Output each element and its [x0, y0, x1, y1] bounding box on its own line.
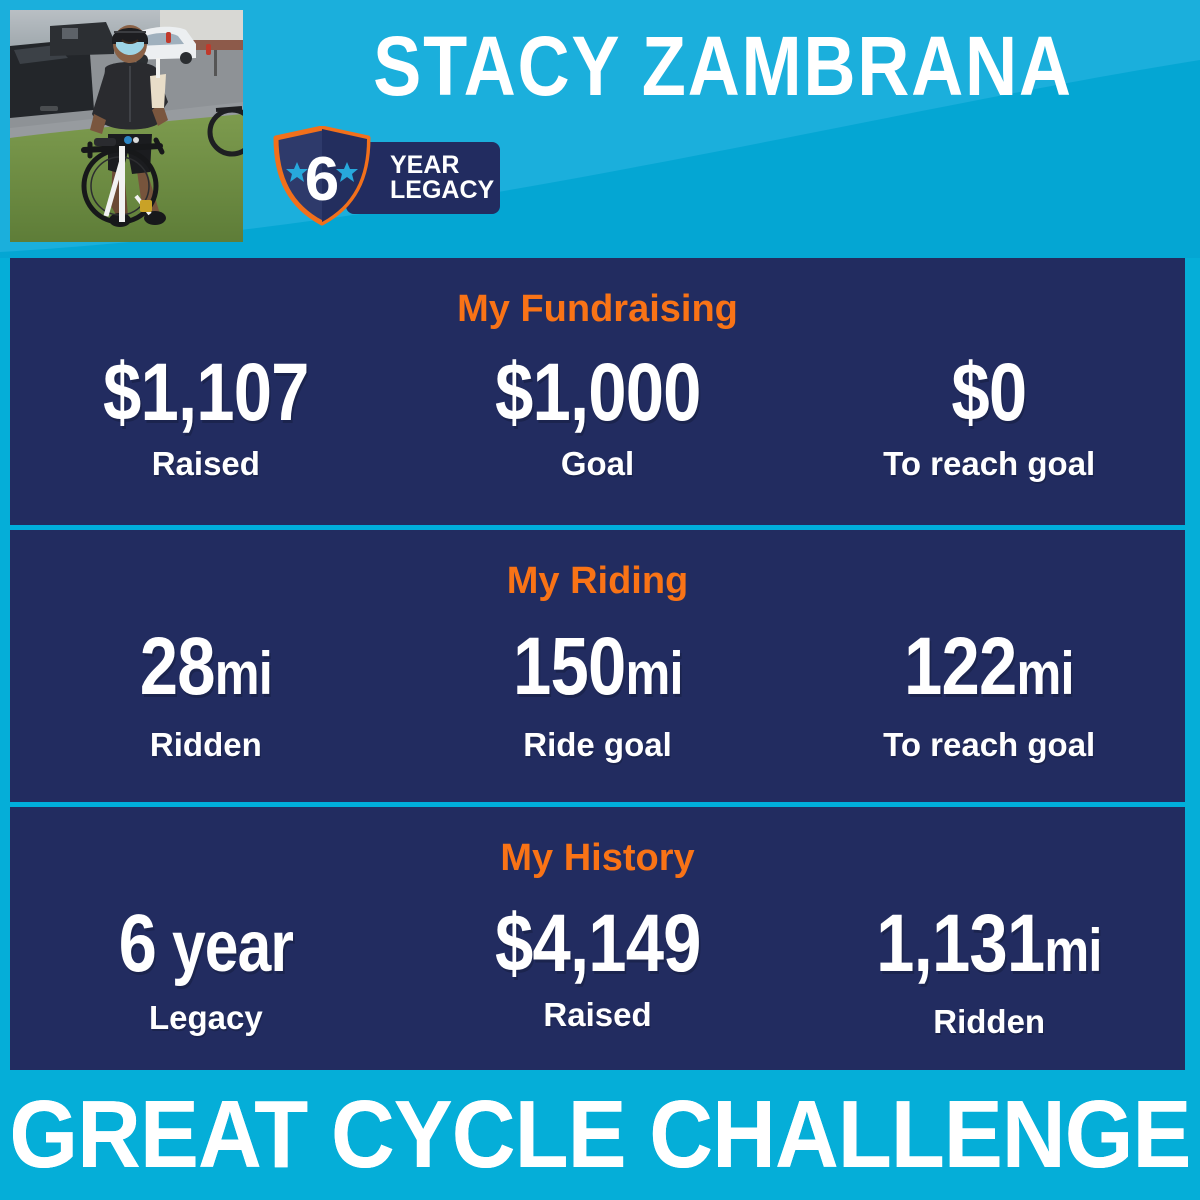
stat-ride-goal: 150mi Ride goal	[402, 621, 794, 764]
stat-legacy: 6 year Legacy	[10, 898, 402, 1041]
rider-photo	[10, 10, 243, 242]
fundraising-stats-row: $1,107 Raised $1,000 Goal $0 To reach go…	[10, 347, 1185, 483]
stat-to-reach-goal-miles: 122mi To reach goal	[793, 621, 1185, 764]
stat-to-reach-goal-money-label: To reach goal	[793, 445, 1185, 483]
stat-goal-label: Goal	[402, 445, 794, 483]
stat-lifetime-raised-number: $4,149	[495, 898, 701, 989]
stat-ridden-unit: mi	[215, 640, 272, 707]
stat-to-reach-goal-money-value: $0	[825, 347, 1154, 439]
stat-ride-goal-value: 150mi	[433, 621, 762, 720]
legacy-badge-line1: YEAR	[390, 153, 500, 178]
stat-ridden-number: 28	[140, 621, 215, 712]
stat-to-reach-goal-miles-value: 122mi	[825, 621, 1154, 720]
stat-raised-number: $1,107	[103, 347, 309, 438]
stat-lifetime-raised-value: $4,149	[433, 898, 762, 990]
legacy-badge-line2: LEGACY	[390, 178, 500, 203]
stat-to-reach-goal-miles-number: 122	[904, 621, 1016, 712]
stat-legacy-number: 6	[119, 898, 156, 989]
stat-to-reach-goal-miles-unit: mi	[1017, 640, 1074, 707]
shield-icon: 6	[268, 126, 376, 226]
section-title-history: My History	[10, 807, 1185, 880]
section-history: My History 6 year Legacy $4,149 Raised 1…	[10, 807, 1185, 1080]
stats-panel: My Fundraising $1,107 Raised $1,000 Goal…	[10, 258, 1185, 1070]
stat-ridden-value: 28mi	[41, 621, 370, 720]
stat-lifetime-raised-label: Raised	[402, 996, 794, 1034]
section-title-fundraising: My Fundraising	[10, 258, 1185, 331]
stat-to-reach-goal-miles-label: To reach goal	[793, 726, 1185, 764]
stat-to-reach-goal-money: $0 To reach goal	[793, 347, 1185, 483]
stat-ridden: 28mi Ridden	[10, 621, 402, 764]
riding-stats-row: 28mi Ridden 150mi Ride goal 122mi To rea…	[10, 621, 1185, 764]
stat-ride-goal-label: Ride goal	[402, 726, 794, 764]
stat-lifetime-ridden-value: 1,131mi	[825, 898, 1154, 997]
stat-goal: $1,000 Goal	[402, 347, 794, 483]
stat-lifetime-ridden-number: 1,131	[877, 898, 1045, 989]
stat-lifetime-ridden: 1,131mi Ridden	[793, 898, 1185, 1041]
rider-photo-image	[10, 10, 243, 242]
legacy-badge: YEAR LEGACY 6	[268, 126, 500, 226]
section-title-riding: My Riding	[10, 530, 1185, 603]
history-stats-row: 6 year Legacy $4,149 Raised 1,131mi Ridd…	[10, 898, 1185, 1041]
page-title: STACY ZAMBRANA	[323, 20, 1123, 112]
stat-ridden-label: Ridden	[10, 726, 402, 764]
stat-goal-value: $1,000	[433, 347, 762, 439]
brand-wordmark: GREAT CYCLE CHALLENGE	[9, 1080, 1190, 1190]
section-fundraising: My Fundraising $1,107 Raised $1,000 Goal…	[10, 258, 1185, 525]
legacy-badge-number: 6	[305, 145, 339, 214]
footer-brand-bar: GREAT CYCLE CHALLENGE	[0, 1070, 1200, 1200]
stat-legacy-label: Legacy	[10, 999, 402, 1037]
stat-ride-goal-number: 150	[513, 621, 625, 712]
stat-goal-number: $1,000	[495, 347, 701, 438]
section-riding: My Riding 28mi Ridden 150mi Ride goal 12…	[10, 530, 1185, 802]
stat-legacy-unit: year	[156, 907, 293, 987]
stat-raised-label: Raised	[10, 445, 402, 483]
stat-lifetime-ridden-unit: mi	[1045, 917, 1102, 984]
stat-raised: $1,107 Raised	[10, 347, 402, 483]
stat-lifetime-raised: $4,149 Raised	[402, 898, 794, 1041]
stat-to-reach-goal-money-number: $0	[952, 347, 1027, 438]
stat-lifetime-ridden-label: Ridden	[793, 1003, 1185, 1041]
stat-ride-goal-unit: mi	[625, 640, 682, 707]
stat-raised-value: $1,107	[41, 347, 370, 439]
stat-legacy-value: 6 year	[41, 898, 370, 993]
header-banner: STACY ZAMBRANA YEAR LEGACY 6	[0, 0, 1200, 258]
